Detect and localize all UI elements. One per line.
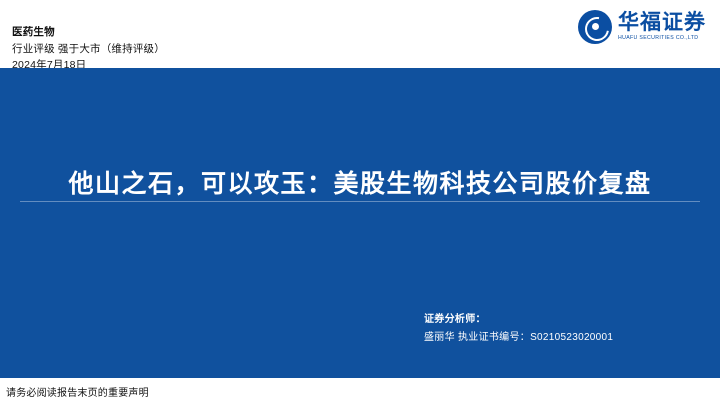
- industry-label: 医药生物: [12, 24, 165, 41]
- company-logo: 华福证券 HUAFU SECURITIES CO.,LTD: [578, 10, 706, 44]
- analyst-label: 证券分析师：: [424, 311, 613, 329]
- title-divider: [20, 201, 700, 202]
- logo-name-en: HUAFU SECURITIES CO.,LTD: [618, 36, 706, 41]
- cover-header: 医药生物 行业评级 强于大市（维持评级） 2024年7月18日 华福证券 HUA…: [0, 0, 720, 68]
- analyst-block: 证券分析师： 盛丽华 执业证书编号：S0210523020001: [424, 311, 613, 347]
- header-meta-block: 医药生物 行业评级 强于大市（维持评级） 2024年7月18日: [12, 24, 165, 74]
- cover-blue-panel: 他山之石，可以攻玉：美股生物科技公司股价复盘 证券分析师： 盛丽华 执业证书编号…: [0, 68, 720, 378]
- analyst-name-and-license: 盛丽华 执业证书编号：S0210523020001: [424, 329, 613, 347]
- report-cover-page: 医药生物 行业评级 强于大市（维持评级） 2024年7月18日 华福证券 HUA…: [0, 0, 720, 405]
- industry-rating: 行业评级 强于大市（维持评级）: [12, 41, 165, 58]
- logo-name-cn: 华福证券: [618, 12, 706, 33]
- huafu-swirl-icon: [578, 10, 612, 44]
- logo-text-block: 华福证券 HUAFU SECURITIES CO.,LTD: [618, 12, 706, 41]
- page-title: 他山之石，可以攻玉：美股生物科技公司股价复盘: [0, 164, 720, 200]
- disclaimer-note: 请务必阅读报告末页的重要声明: [6, 384, 149, 399]
- cover-footer: 请务必阅读报告末页的重要声明: [0, 378, 720, 405]
